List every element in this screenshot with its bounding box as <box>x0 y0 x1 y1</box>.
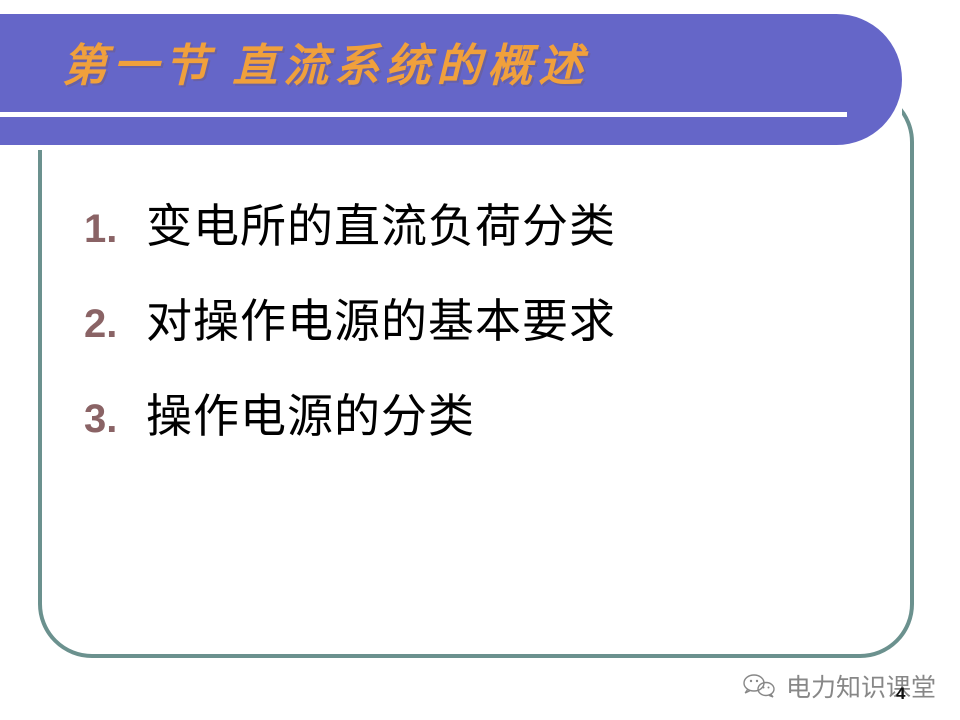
slide-canvas: 第一节 直流系统的概述 1. 变电所的直流负荷分类 2. 对操作电源的基本要求 … <box>0 0 960 720</box>
title-banner: 第一节 直流系统的概述 <box>0 14 902 145</box>
list-item: 1. 变电所的直流负荷分类 <box>84 190 824 285</box>
banner-underline <box>0 112 847 117</box>
list-item: 3. 操作电源的分类 <box>84 380 824 475</box>
list-item-number: 2. <box>84 302 146 347</box>
watermark-label: 电力知识课堂 <box>786 668 936 704</box>
list-item-label: 变电所的直流负荷分类 <box>146 190 616 256</box>
watermark: 电力知识课堂 <box>742 668 936 704</box>
list-item-label: 操作电源的分类 <box>146 380 475 446</box>
slide-title: 第一节 直流系统的概述 <box>62 26 882 106</box>
page-number: 4 <box>896 684 905 704</box>
agenda-list: 1. 变电所的直流负荷分类 2. 对操作电源的基本要求 3. 操作电源的分类 <box>84 190 824 475</box>
list-item-number: 3. <box>84 397 146 442</box>
list-item: 2. 对操作电源的基本要求 <box>84 285 824 380</box>
wechat-icon <box>742 672 778 700</box>
list-item-label: 对操作电源的基本要求 <box>146 285 616 351</box>
list-item-number: 1. <box>84 207 146 252</box>
